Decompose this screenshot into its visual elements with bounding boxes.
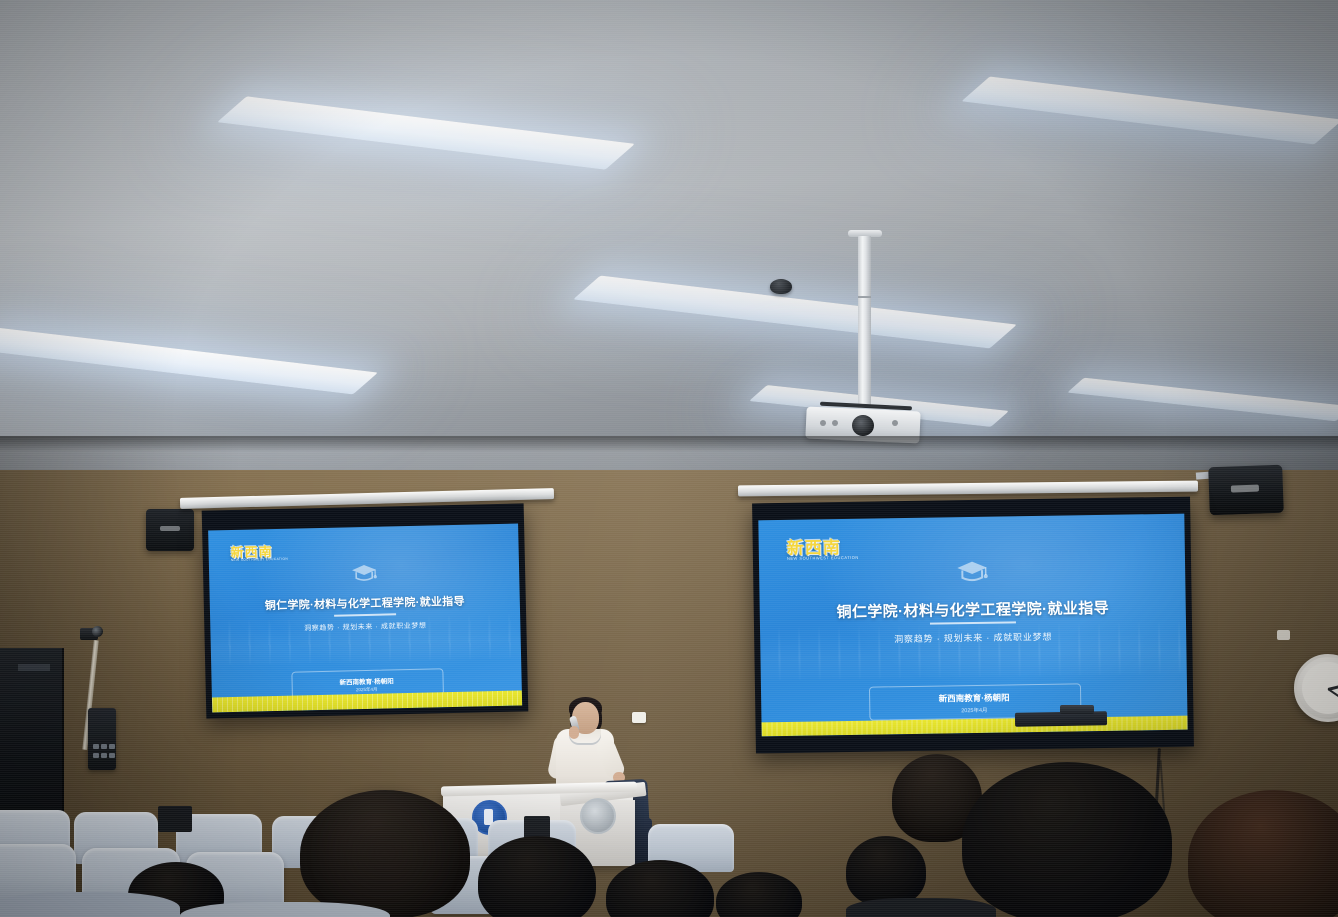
ceiling (0, 0, 1338, 470)
slide-accent-band (762, 716, 1188, 737)
ceiling-light-strip (573, 276, 1017, 349)
audience-head (962, 762, 1172, 917)
screen-bezel: 新西南 NEW SOUTHWEST EDUCATION 铜仁学院·材料与化学工程… (752, 497, 1194, 754)
slide-background-pattern (760, 617, 1187, 680)
ceiling-light-strip (1067, 378, 1338, 422)
audience-head (716, 872, 802, 917)
smoke-detector-icon (770, 279, 792, 294)
projector-vent (820, 420, 826, 426)
ceiling-light-strip (0, 328, 378, 395)
ceiling-light-strip (217, 96, 635, 169)
slide-content: 新西南 NEW SOUTHWEST EDUCATION 铜仁学院·材料与化学工程… (758, 514, 1187, 737)
power-outlet[interactable] (1277, 630, 1290, 640)
control-panel-button[interactable] (101, 744, 107, 749)
brand-sublogo: NEW SOUTHWEST EDUCATION (787, 555, 859, 561)
control-panel-button[interactable] (93, 744, 99, 749)
lecture-hall-photo: 新西南 NEW SOUTHWEST EDUCATION 铜仁学院·材料与化学工程… (0, 0, 1338, 917)
control-panel-button[interactable] (93, 753, 99, 758)
audience-head (1188, 790, 1338, 917)
control-panel-button[interactable] (101, 753, 107, 758)
projector-mount-pole (858, 236, 871, 408)
projector-vent (892, 420, 898, 426)
power-outlet[interactable] (632, 712, 646, 723)
projector-vent (832, 420, 838, 426)
screen-bezel: 新西南 NEW SOUTHWEST EDUCATION 铜仁学院·材料与化学工程… (202, 503, 529, 718)
slide-content: 新西南 NEW SOUTHWEST EDUCATION 铜仁学院·材料与化学工程… (208, 524, 522, 713)
audience-head (846, 836, 926, 906)
graduation-cap-icon (351, 563, 377, 584)
graduation-cap-icon (956, 559, 988, 584)
audience-seating (0, 806, 1338, 917)
equipment-case (158, 806, 192, 832)
audience-head (478, 836, 596, 917)
audience-shoulder (0, 892, 180, 917)
av-equipment (1060, 705, 1094, 714)
door-sign (18, 664, 50, 671)
wall-speaker-left (146, 509, 194, 551)
presenter-hand (569, 726, 579, 739)
camera-lens-icon (92, 626, 103, 637)
audience-shoulder (846, 898, 996, 917)
brand-sublogo: NEW SOUTHWEST EDUCATION (231, 557, 288, 562)
wall-speaker-right (1208, 465, 1284, 516)
control-panel-button[interactable] (109, 753, 115, 758)
audience-head (300, 790, 470, 917)
audience-shoulder (180, 902, 390, 917)
control-panel-button[interactable] (109, 744, 115, 749)
ceiling-light-strip (961, 76, 1338, 144)
wall-ceiling-shadow (0, 436, 1338, 452)
wall-control-panel[interactable] (88, 708, 116, 770)
